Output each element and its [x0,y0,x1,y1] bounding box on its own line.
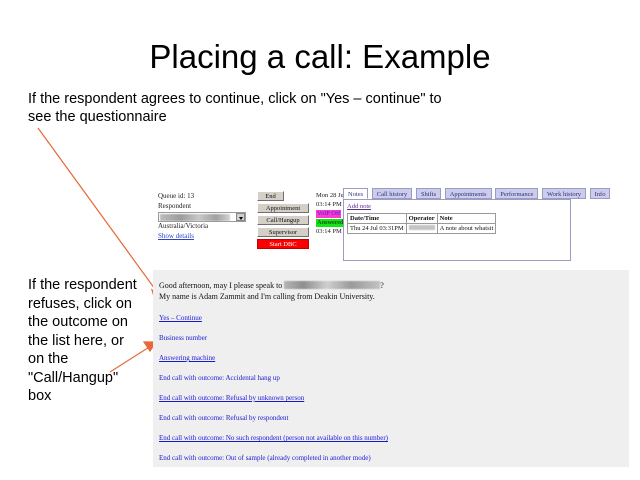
column-datetime: Date/Time [348,214,407,224]
queue-id-label: Queue id: 13 [158,192,250,202]
link-accidental-hang-up[interactable]: End call with outcome: Accidental hang u… [159,374,599,383]
tab-notes[interactable]: Notes [343,188,368,199]
end-button[interactable]: End [257,191,284,201]
supervisor-button[interactable]: Supervisor [257,227,309,237]
embedded-app-screenshot: Queue id: 13 Respondent Australia/Victor… [153,186,629,467]
cell-operator [406,224,437,234]
table-header-row: Date/Time Operator Note [348,214,496,224]
appointment-button[interactable]: Appointment [257,203,309,213]
operator-redacted [409,225,435,230]
page-title: Placing a call: Example [0,38,640,76]
call-script: Good afternoon, may I please speak to ? … [159,280,599,302]
column-operator: Operator [406,214,437,224]
chevron-down-icon[interactable] [236,213,245,221]
start-dbc-button[interactable]: Start DBC [257,239,309,249]
annotation-left: If the respondent refuses, click on the … [28,276,138,406]
notes-table: Date/Time Operator Note Thu 24 Jul 03:31… [347,213,496,234]
tab-appointments[interactable]: Appointments [445,188,492,199]
timezone-label: Australia/Victoria [158,222,250,232]
tab-shifts[interactable]: Shifts [416,188,441,199]
tab-info[interactable]: Info [590,188,611,199]
script-line2: My name is Adam Zammit and I'm calling f… [159,292,375,301]
annotation-top: If the respondent agrees to continue, cl… [28,90,458,126]
respondent-label: Respondent [158,202,250,212]
respondent-name-redacted [284,281,380,289]
call-control-buttons: End Appointment Call/Hangup Supervisor S… [257,191,312,251]
tab-call-history[interactable]: Call history [372,188,413,199]
outcome-link-list: Yes – Continue Business number Answering… [159,314,599,467]
info-tab-panel: Notes Call history Shifts Appointments P… [343,188,608,268]
script-line1-post: ? [380,281,384,290]
cell-datetime: Thu 24 Jul 03:31PM [348,224,407,234]
link-refusal-unknown-person[interactable]: End call with outcome: Refusal by unknow… [159,394,599,403]
link-no-such-respondent[interactable]: End call with outcome: No such responden… [159,434,599,443]
respondent-select[interactable] [158,212,246,222]
app-top-bar: Queue id: 13 Respondent Australia/Victor… [153,186,629,270]
queue-info-block: Queue id: 13 Respondent Australia/Victor… [158,192,250,241]
notes-tab-body: Add note Date/Time Operator Note Thu 24 … [343,199,571,261]
show-details-link[interactable]: Show details [158,232,250,242]
table-row: Thu 24 Jul 03:31PM A note about whatsit [348,224,496,234]
cell-note: A note about whatsit [437,224,496,234]
answered-status-badge: Answered [316,219,344,227]
tab-work-history[interactable]: Work history [542,188,586,199]
link-refusal-by-respondent[interactable]: End call with outcome: Refusal by respon… [159,414,599,423]
respondent-value-redacted [160,214,230,221]
link-answering-machine[interactable]: Answering machine [159,354,599,363]
tab-performance[interactable]: Performance [495,188,538,199]
arrow-line-top [38,128,160,296]
column-note: Note [437,214,496,224]
tab-bar: Notes Call history Shifts Appointments P… [343,188,612,199]
link-yes-continue[interactable]: Yes – Continue [159,314,599,323]
call-hangup-button[interactable]: Call/Hangup [257,215,309,225]
slide: Placing a call: Example If the responden… [0,0,640,480]
voip-status-badge: VoIP Off [316,210,341,218]
link-business-number[interactable]: Business number [159,334,599,343]
add-note-link[interactable]: Add note [347,203,371,210]
script-line1-pre: Good afternoon, may I please speak to [159,281,284,290]
link-out-of-sample[interactable]: End call with outcome: Out of sample (al… [159,454,599,463]
